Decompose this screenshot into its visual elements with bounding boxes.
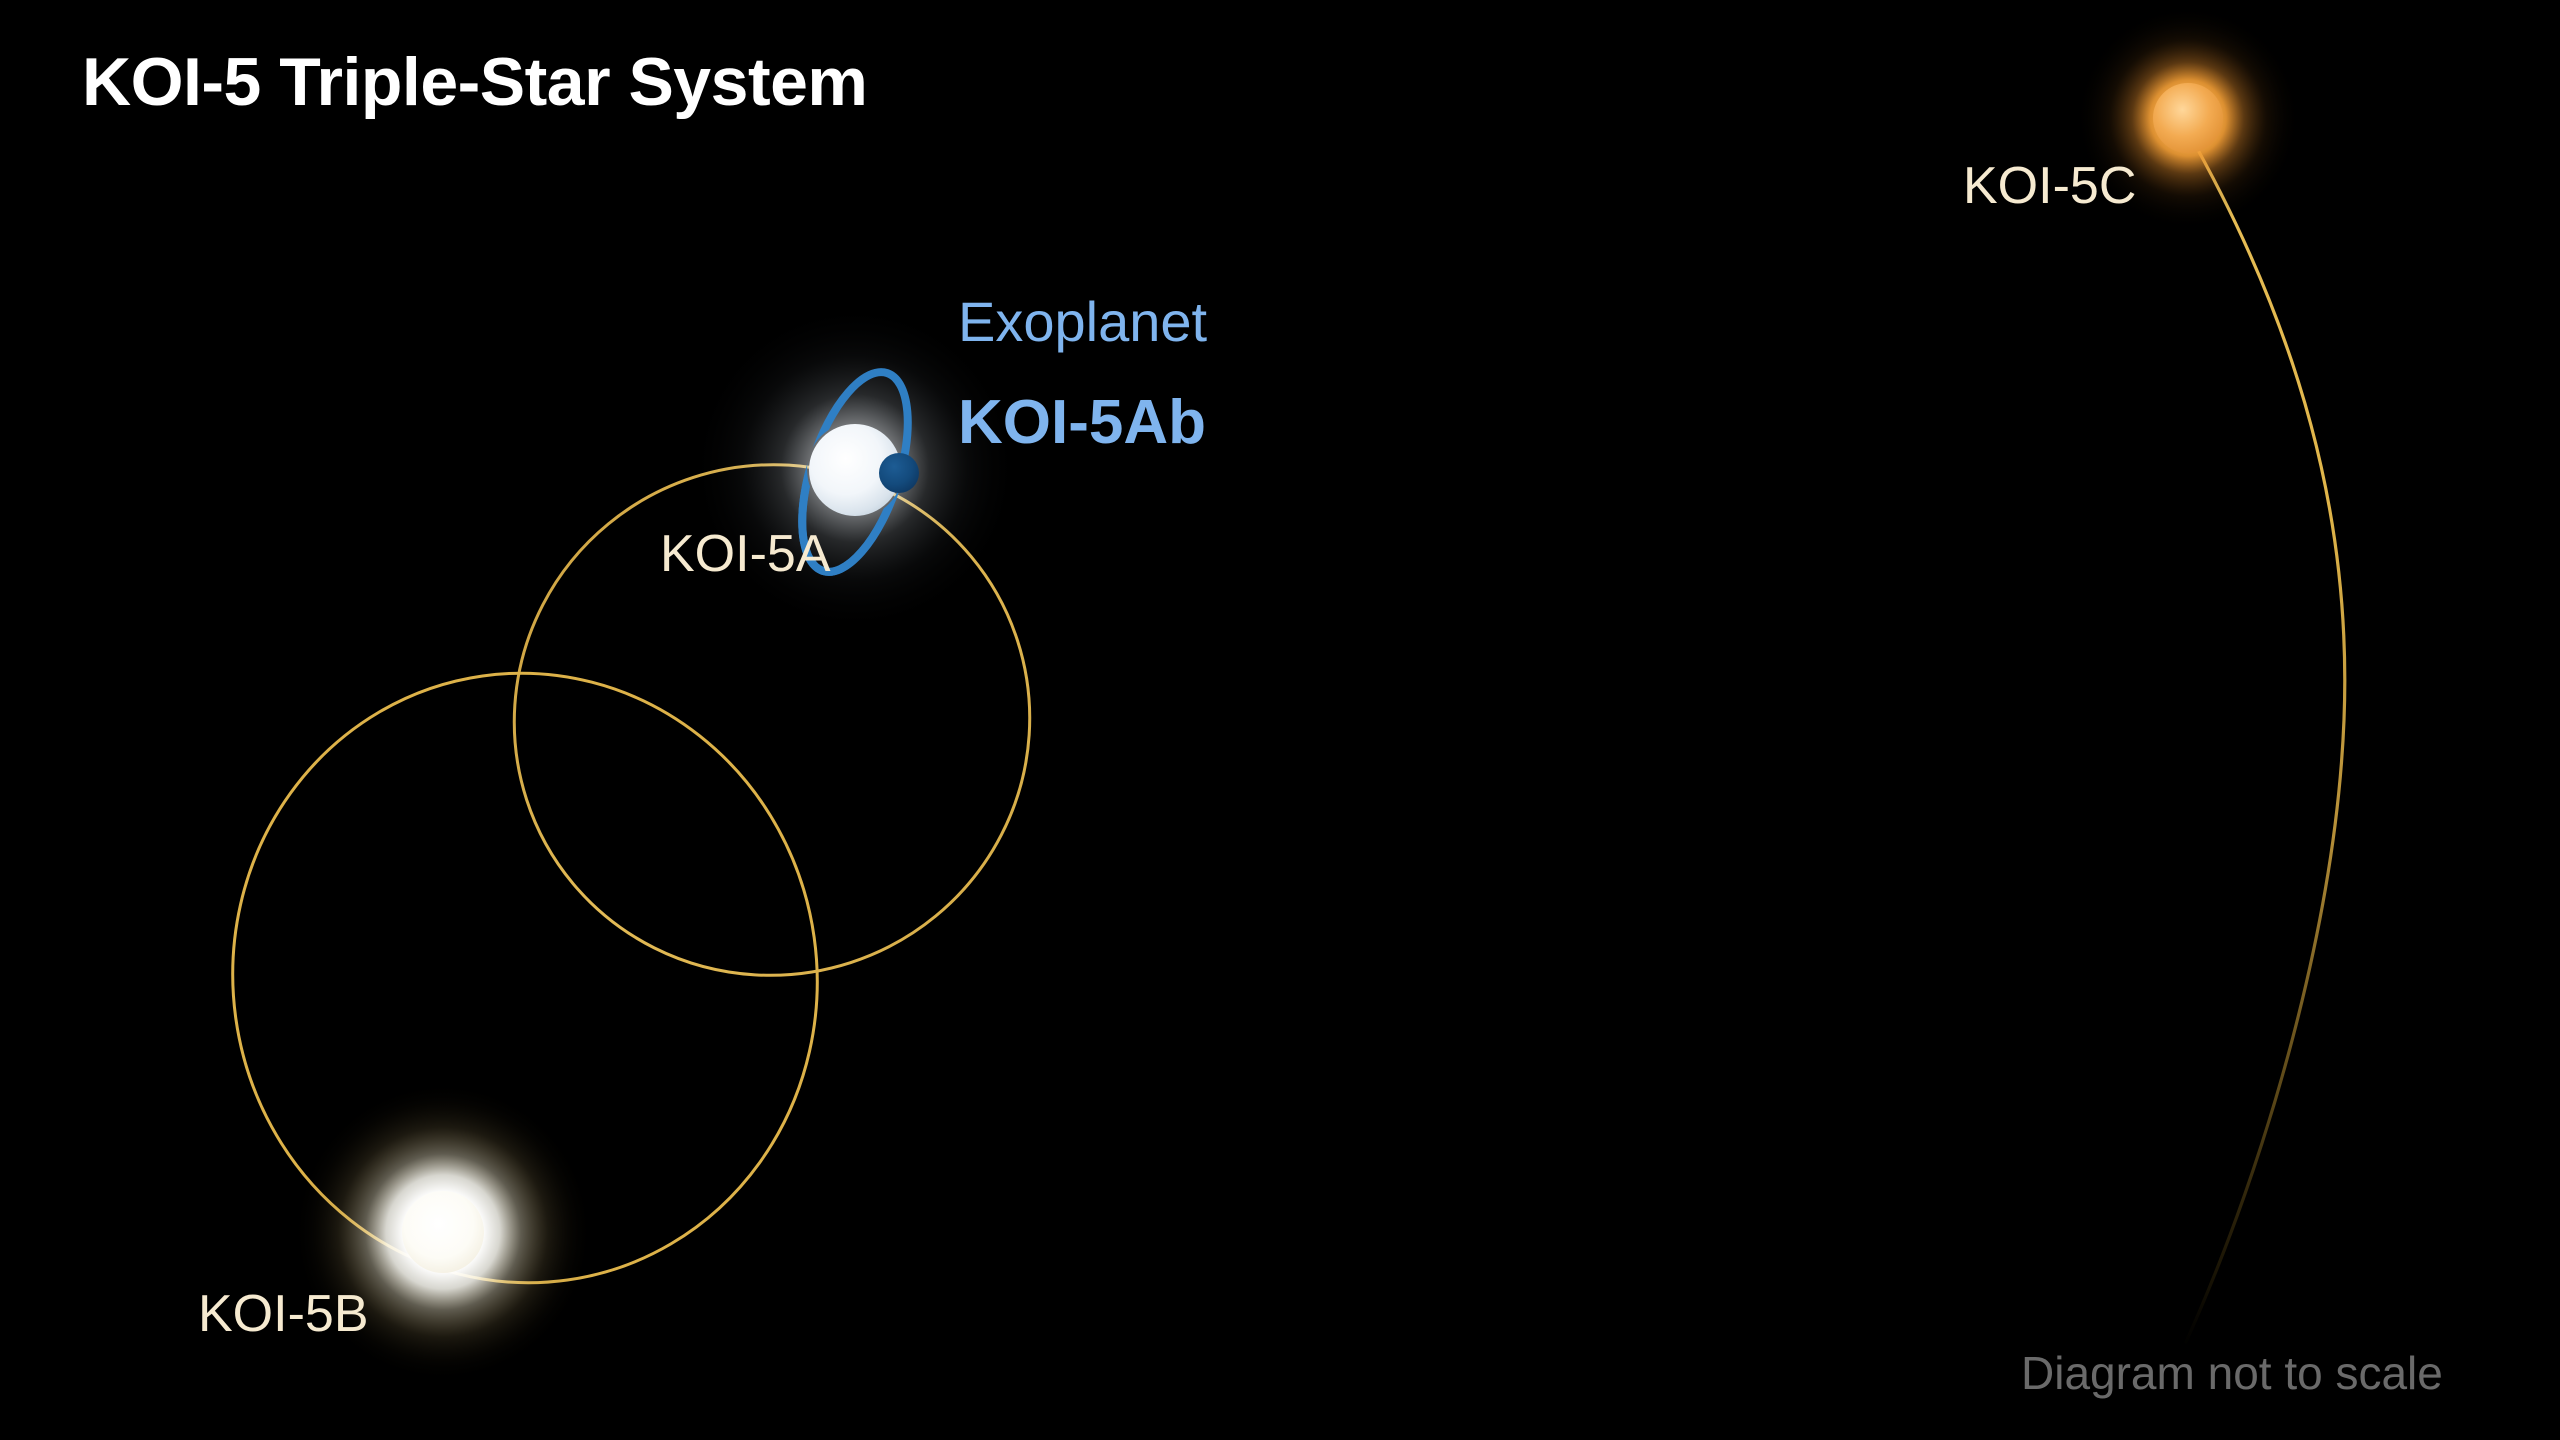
- orbit-koi5c-arc: [2186, 132, 2345, 1342]
- scene-svg: [0, 0, 2560, 1440]
- star-label-koi5a: KOI-5A: [660, 528, 831, 580]
- star-label-koi5c: KOI-5C: [1963, 160, 2136, 212]
- exoplanet-koi5ab-dot: [879, 453, 919, 493]
- diagram-canvas: KOI-5 Triple-Star System KOI-5A KOI-5B K…: [0, 0, 2560, 1440]
- page-title: KOI-5 Triple-Star System: [82, 48, 867, 116]
- star-label-koi5b: KOI-5B: [198, 1288, 369, 1340]
- exoplanet-label-kicker: Exoplanet: [958, 294, 1207, 350]
- scale-disclaimer: Diagram not to scale: [2021, 1350, 2443, 1396]
- exoplanet-label-name: KOI-5Ab: [958, 392, 1206, 454]
